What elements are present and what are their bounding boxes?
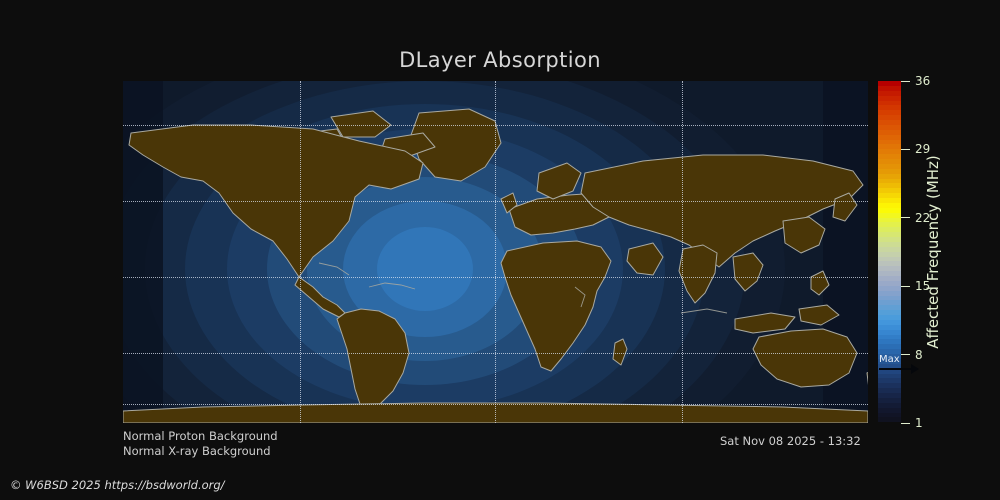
tick-dash (901, 81, 910, 82)
xray-background-text: Normal X-ray Background (123, 444, 278, 459)
plot-canvas: DLayer Absorption (0, 0, 1000, 500)
gridline-horizontal (123, 125, 868, 126)
tick-dash (901, 149, 910, 150)
gridline-vertical (300, 81, 301, 423)
gridline-horizontal (123, 404, 868, 405)
colorbar-axis-label-text: Affected Frequency (MHz) (924, 155, 942, 349)
proton-background-text: Normal Proton Background (123, 429, 278, 444)
colorbar-tick: 1 (901, 416, 923, 430)
background-conditions: Normal Proton Background Normal X-ray Ba… (123, 429, 278, 459)
page-title: DLayer Absorption (0, 48, 1000, 72)
gridline-horizontal (123, 201, 868, 202)
tick-dash (901, 286, 910, 287)
colorbar-segment (878, 417, 901, 422)
gridline-horizontal (123, 277, 868, 278)
world-map (123, 81, 868, 423)
tick-dash (901, 423, 910, 424)
timestamp: Sat Nov 08 2025 - 13:32 (720, 434, 861, 448)
colorbar-tick: 8 (901, 348, 923, 362)
gridline-vertical (682, 81, 683, 423)
tick-dash (901, 217, 910, 218)
gridline-horizontal (123, 353, 868, 354)
credit-line: © W6BSD 2025 https://bsdworld.org/ (10, 478, 225, 492)
colorbar-axis-label: Affected Frequency (MHz) (921, 81, 945, 423)
colorbar (878, 81, 901, 423)
gridline-vertical (495, 81, 496, 423)
tick-dash (901, 354, 910, 355)
